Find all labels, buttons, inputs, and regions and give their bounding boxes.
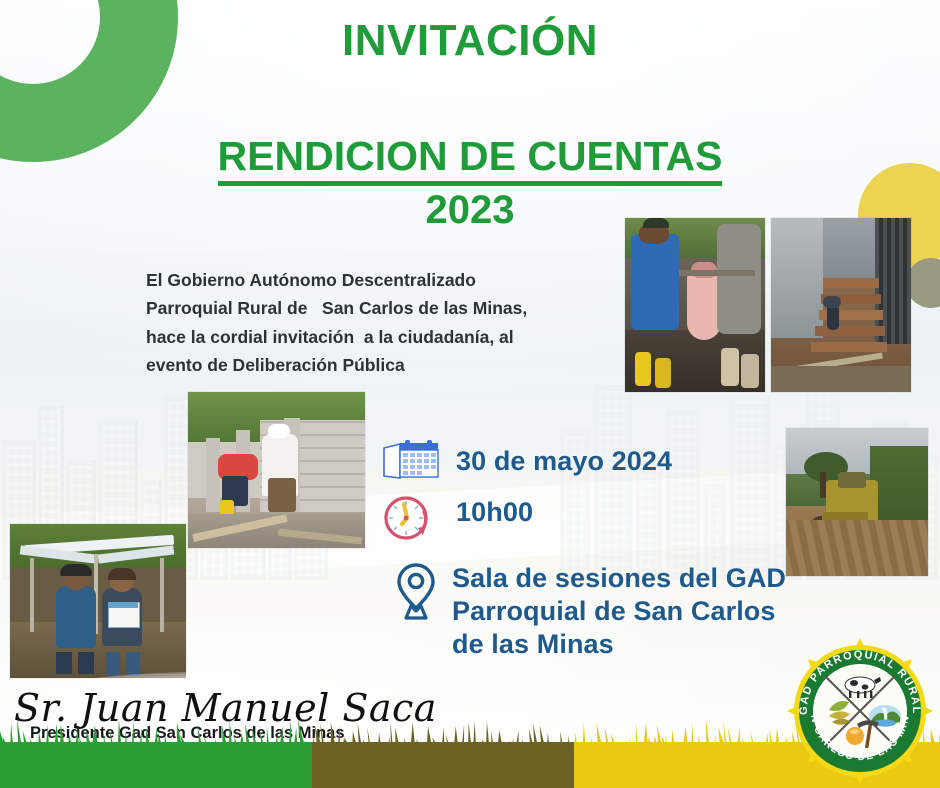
heading-rendicion: RENDICION DE CUENTAS	[0, 133, 940, 180]
event-place: Sala de sesiones del GAD Parroquial de S…	[452, 560, 814, 661]
body-line: El Gobierno Autónomo Descentralizado	[146, 266, 616, 294]
body-line: hace la cordial invitación a la ciudadan…	[146, 323, 616, 351]
body-line: evento de Deliberación Pública	[146, 351, 616, 379]
photo-delivery	[10, 524, 186, 678]
gad-seal: GAD PARROQUIAL RURAL SAN CARLOS DE LAS M…	[787, 638, 933, 784]
heading-rendicion-text: RENDICION DE CUENTAS	[218, 133, 723, 186]
map-pin-icon	[394, 560, 438, 627]
event-time: 10h00	[456, 492, 533, 529]
photo-livestock	[625, 218, 765, 392]
detail-row-place: Sala de sesiones del GAD Parroquial de S…	[394, 560, 814, 661]
invitation-poster: INVITACIÓN RENDICION DE CUENTAS 2023 El …	[0, 0, 940, 788]
photo-grader	[786, 428, 928, 576]
detail-row-date: 30 de mayo 2024	[380, 438, 672, 487]
invitation-body: El Gobierno Autónomo Descentralizado Par…	[146, 266, 616, 379]
photo-stairs	[771, 218, 911, 392]
heading-invitacion: INVITACIÓN	[0, 16, 940, 66]
calendar-icon	[380, 438, 442, 487]
body-line: Parroquial Rural de San Carlos de las Mi…	[146, 294, 616, 322]
detail-row-time: 10h00	[380, 492, 533, 549]
event-date: 30 de mayo 2024	[456, 438, 672, 478]
clock-icon	[380, 492, 442, 549]
photo-building	[188, 392, 365, 548]
